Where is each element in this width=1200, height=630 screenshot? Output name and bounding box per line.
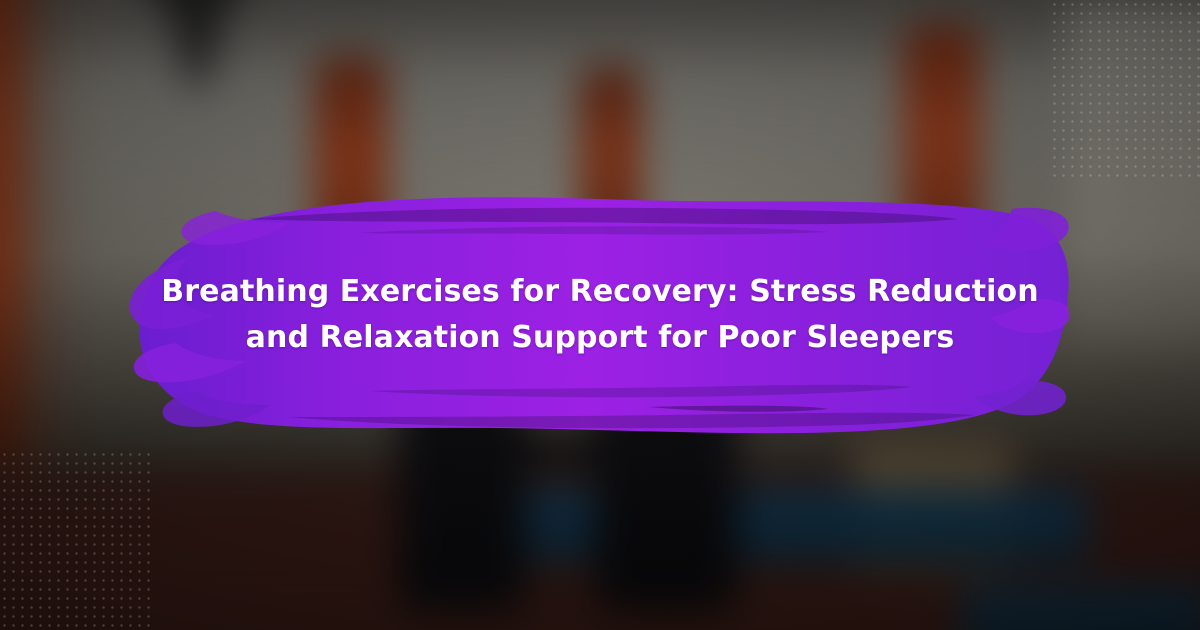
halftone-texture-top-right — [1050, 0, 1200, 180]
brush-stroke-shape — [128, 185, 1072, 445]
title-banner — [128, 185, 1072, 445]
halftone-texture-bottom-left — [0, 450, 150, 630]
poster-canvas: Breathing Exercises for Recovery: Stress… — [0, 0, 1200, 630]
